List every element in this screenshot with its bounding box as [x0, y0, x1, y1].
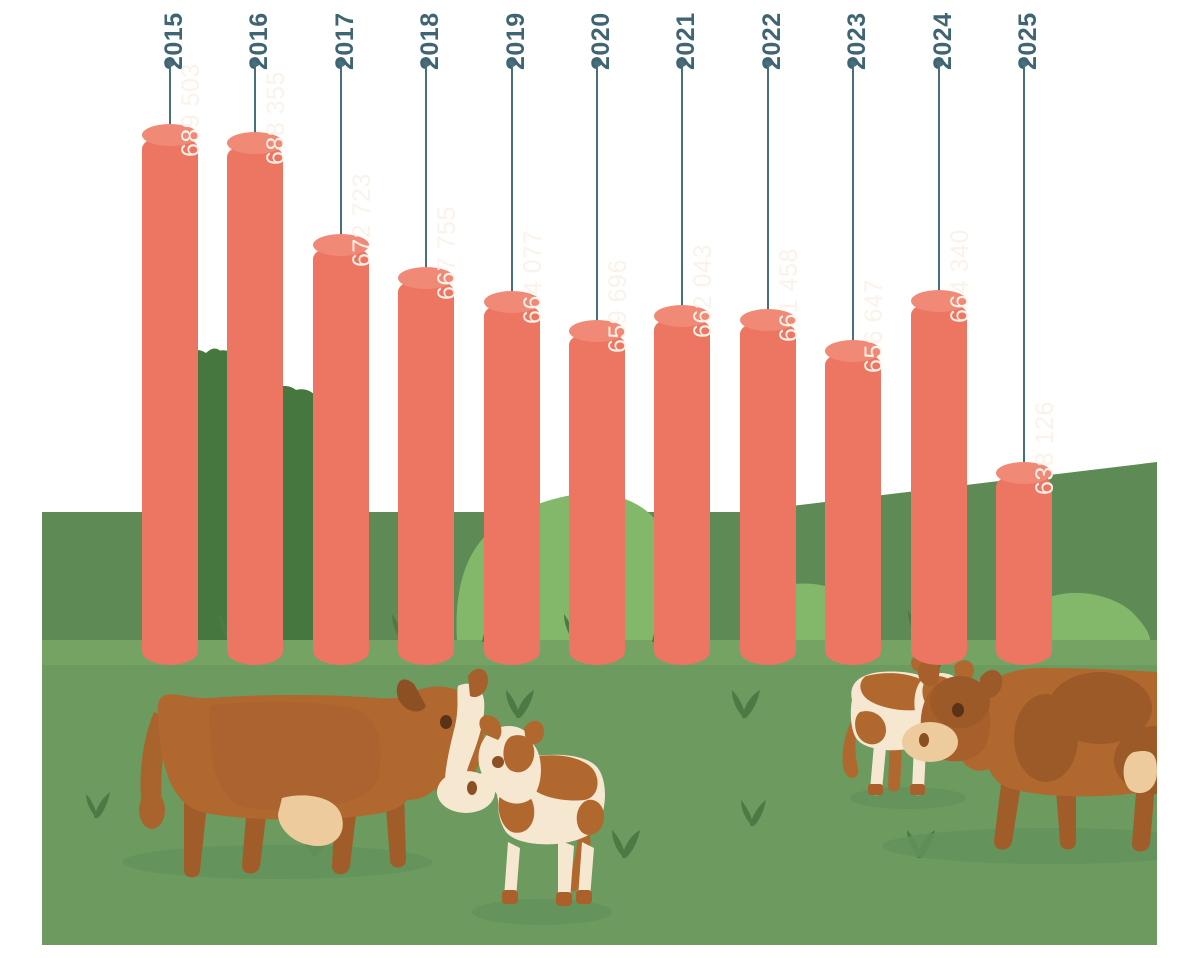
bar-group-2022[interactable]: 2022661 458 — [740, 0, 796, 665]
bar-group-2020[interactable]: 2020659 696 — [569, 0, 625, 665]
bar-group-2018[interactable]: 2018667 755 — [398, 0, 454, 665]
pin-line-2022 — [767, 62, 769, 334]
bar-2018[interactable] — [398, 278, 454, 665]
value-label-2018: 667 755 — [435, 206, 460, 300]
pin-line-2025 — [1023, 62, 1025, 487]
value-label-2015: 689 503 — [179, 63, 204, 157]
pin-line-2024 — [938, 62, 940, 315]
bar-2015[interactable] — [142, 135, 198, 665]
year-label-2017: 2017 — [333, 12, 358, 70]
value-label-2020: 659 696 — [606, 259, 631, 353]
bar-2016[interactable] — [227, 143, 283, 665]
year-label-2015: 2015 — [162, 12, 187, 70]
bar-group-2017[interactable]: 2017672 723 — [313, 0, 369, 665]
bar-2021[interactable] — [654, 316, 710, 665]
bar-2020[interactable] — [569, 331, 625, 665]
value-label-2022: 661 458 — [777, 248, 802, 342]
bar-group-2025[interactable]: 2025638 126 — [996, 0, 1052, 665]
bar-2022[interactable] — [740, 320, 796, 665]
bar-group-2021[interactable]: 2021662 043 — [654, 0, 710, 665]
value-label-2017: 672 723 — [350, 174, 375, 268]
bar-group-2019[interactable]: 2019664 077 — [484, 0, 540, 665]
year-label-2020: 2020 — [589, 12, 614, 70]
bar-group-2015[interactable]: 2015689 503 — [142, 0, 198, 665]
year-label-2016: 2016 — [247, 12, 272, 70]
bar-2024[interactable] — [911, 301, 967, 665]
bar-group-2016[interactable]: 2016688 355 — [227, 0, 283, 665]
pin-line-2023 — [852, 62, 854, 365]
year-label-2024: 2024 — [931, 12, 956, 70]
bar-group-2023[interactable]: 2023656 647 — [825, 0, 881, 665]
pin-line-2021 — [681, 62, 683, 330]
bar-2023[interactable] — [825, 351, 881, 665]
year-label-2025: 2025 — [1016, 12, 1041, 70]
bar-2019[interactable] — [484, 302, 540, 665]
bar-chart-layer: 2015689 5032016688 3552017672 7232018667… — [0, 0, 1199, 958]
pin-line-2017 — [340, 62, 342, 259]
year-label-2018: 2018 — [418, 12, 443, 70]
bar-group-2024[interactable]: 2024664 340 — [911, 0, 967, 665]
value-label-2024: 664 340 — [948, 229, 973, 323]
year-label-2021: 2021 — [674, 12, 699, 70]
bar-2025[interactable] — [996, 473, 1052, 665]
value-label-2025: 638 126 — [1033, 401, 1058, 495]
year-label-2023: 2023 — [845, 12, 870, 70]
year-label-2019: 2019 — [504, 12, 529, 70]
value-label-2016: 688 355 — [264, 71, 289, 165]
value-label-2021: 662 043 — [691, 244, 716, 338]
pin-line-2018 — [425, 62, 427, 292]
infographic-canvas: 2015689 5032016688 3552017672 7232018667… — [0, 0, 1199, 958]
pin-line-2020 — [596, 62, 598, 345]
year-label-2022: 2022 — [760, 12, 785, 70]
bar-2017[interactable] — [313, 245, 369, 665]
value-label-2019: 664 077 — [521, 230, 546, 324]
value-label-2023: 656 647 — [862, 279, 887, 373]
pin-line-2019 — [511, 62, 513, 316]
